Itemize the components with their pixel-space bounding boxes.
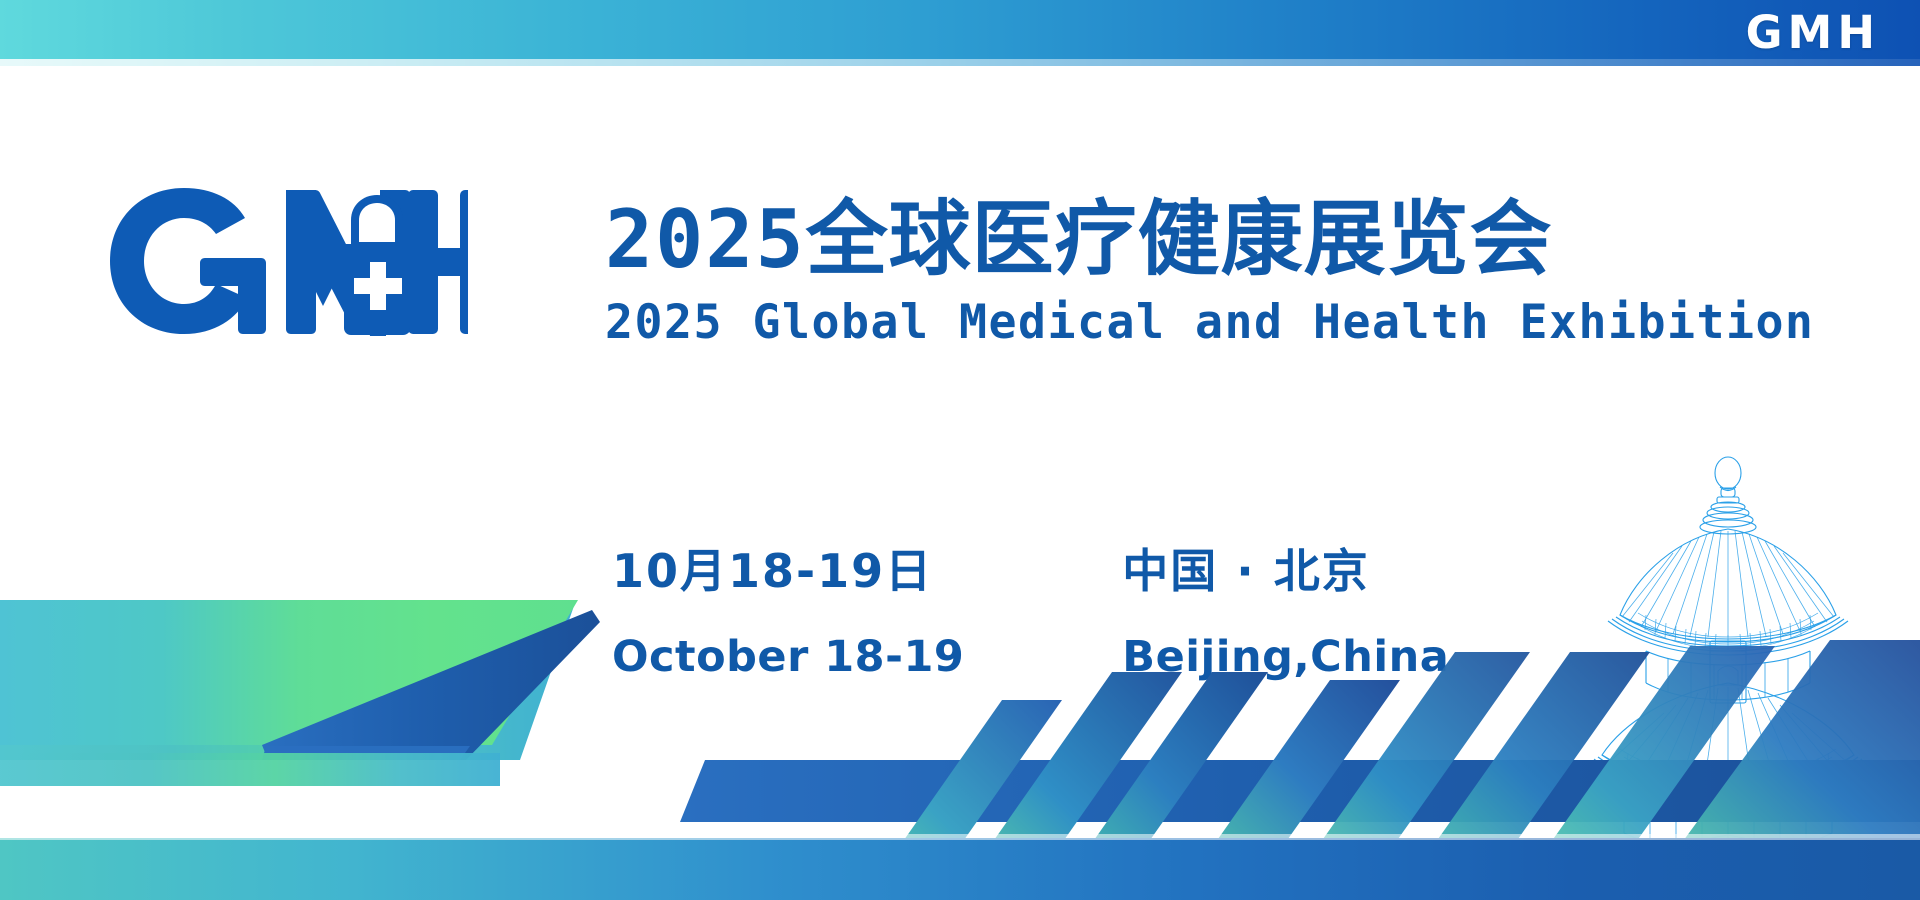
title-block: 2025全球医疗健康展览会 2025 Global Medical and He… xyxy=(605,190,1855,352)
event-location-block: 中国 · 北京 Beijing,China xyxy=(1088,540,1449,688)
top-bar-brand-text: GMH xyxy=(1746,2,1880,64)
event-info-row: 10月18-19日 October 18-19 中国 · 北京 Beijing,… xyxy=(612,540,1449,688)
event-location-chinese: 中国 · 北京 xyxy=(1122,540,1449,602)
title-chinese-text: 全球医疗健康展览会 xyxy=(806,192,1553,287)
gmh-logo xyxy=(108,186,468,336)
stethoscope-icon xyxy=(344,195,410,336)
temple-of-heaven-illustration xyxy=(1528,455,1920,900)
event-date-block: 10月18-19日 October 18-19 xyxy=(612,540,964,688)
top-bar-sheen xyxy=(0,59,1920,66)
event-location-english: Beijing,China xyxy=(1122,626,1449,688)
top-bar: GMH xyxy=(0,0,1920,66)
title-chinese: 2025全球医疗健康展览会 xyxy=(605,190,1855,290)
title-year: 2025 xyxy=(605,193,806,286)
title-english: 2025 Global Medical and Health Exhibitio… xyxy=(605,294,1843,352)
event-date-chinese: 10月18-19日 xyxy=(612,540,964,602)
event-banner: GMH xyxy=(0,0,1920,900)
event-date-english: October 18-19 xyxy=(612,626,964,688)
